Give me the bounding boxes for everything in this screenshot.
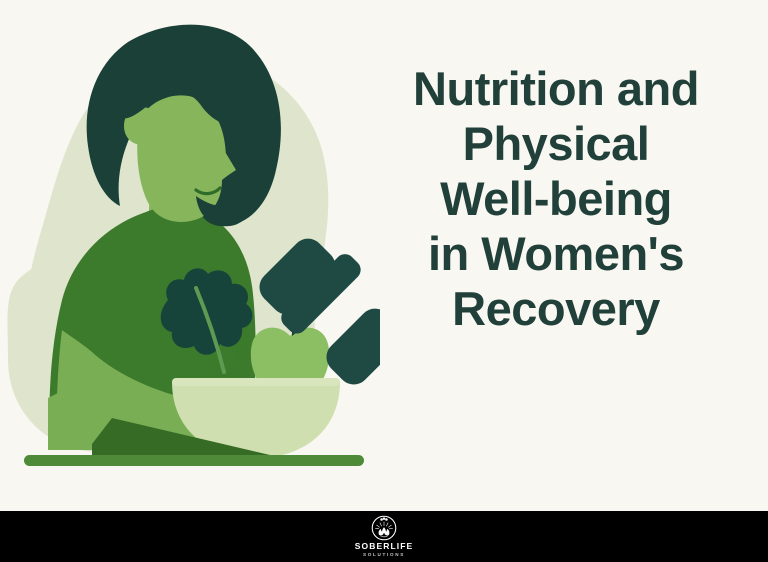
illustration-container xyxy=(0,0,380,512)
title-block: Nutrition and Physical Well-being in Wom… xyxy=(372,62,740,337)
page-title: Nutrition and Physical Well-being in Wom… xyxy=(372,62,740,337)
brand-name: SOBERLIFE xyxy=(355,542,414,551)
woman-with-healthy-food-illustration xyxy=(0,0,380,512)
bowl-rim xyxy=(172,378,340,386)
table-surface xyxy=(24,455,364,466)
footer-bar: SOBERLIFE SOLUTIONS xyxy=(0,511,768,562)
brand-tagline: SOLUTIONS xyxy=(363,553,405,558)
poster-canvas: Nutrition and Physical Well-being in Wom… xyxy=(0,0,768,562)
lotus-hands-circle-logo-icon xyxy=(371,515,397,541)
